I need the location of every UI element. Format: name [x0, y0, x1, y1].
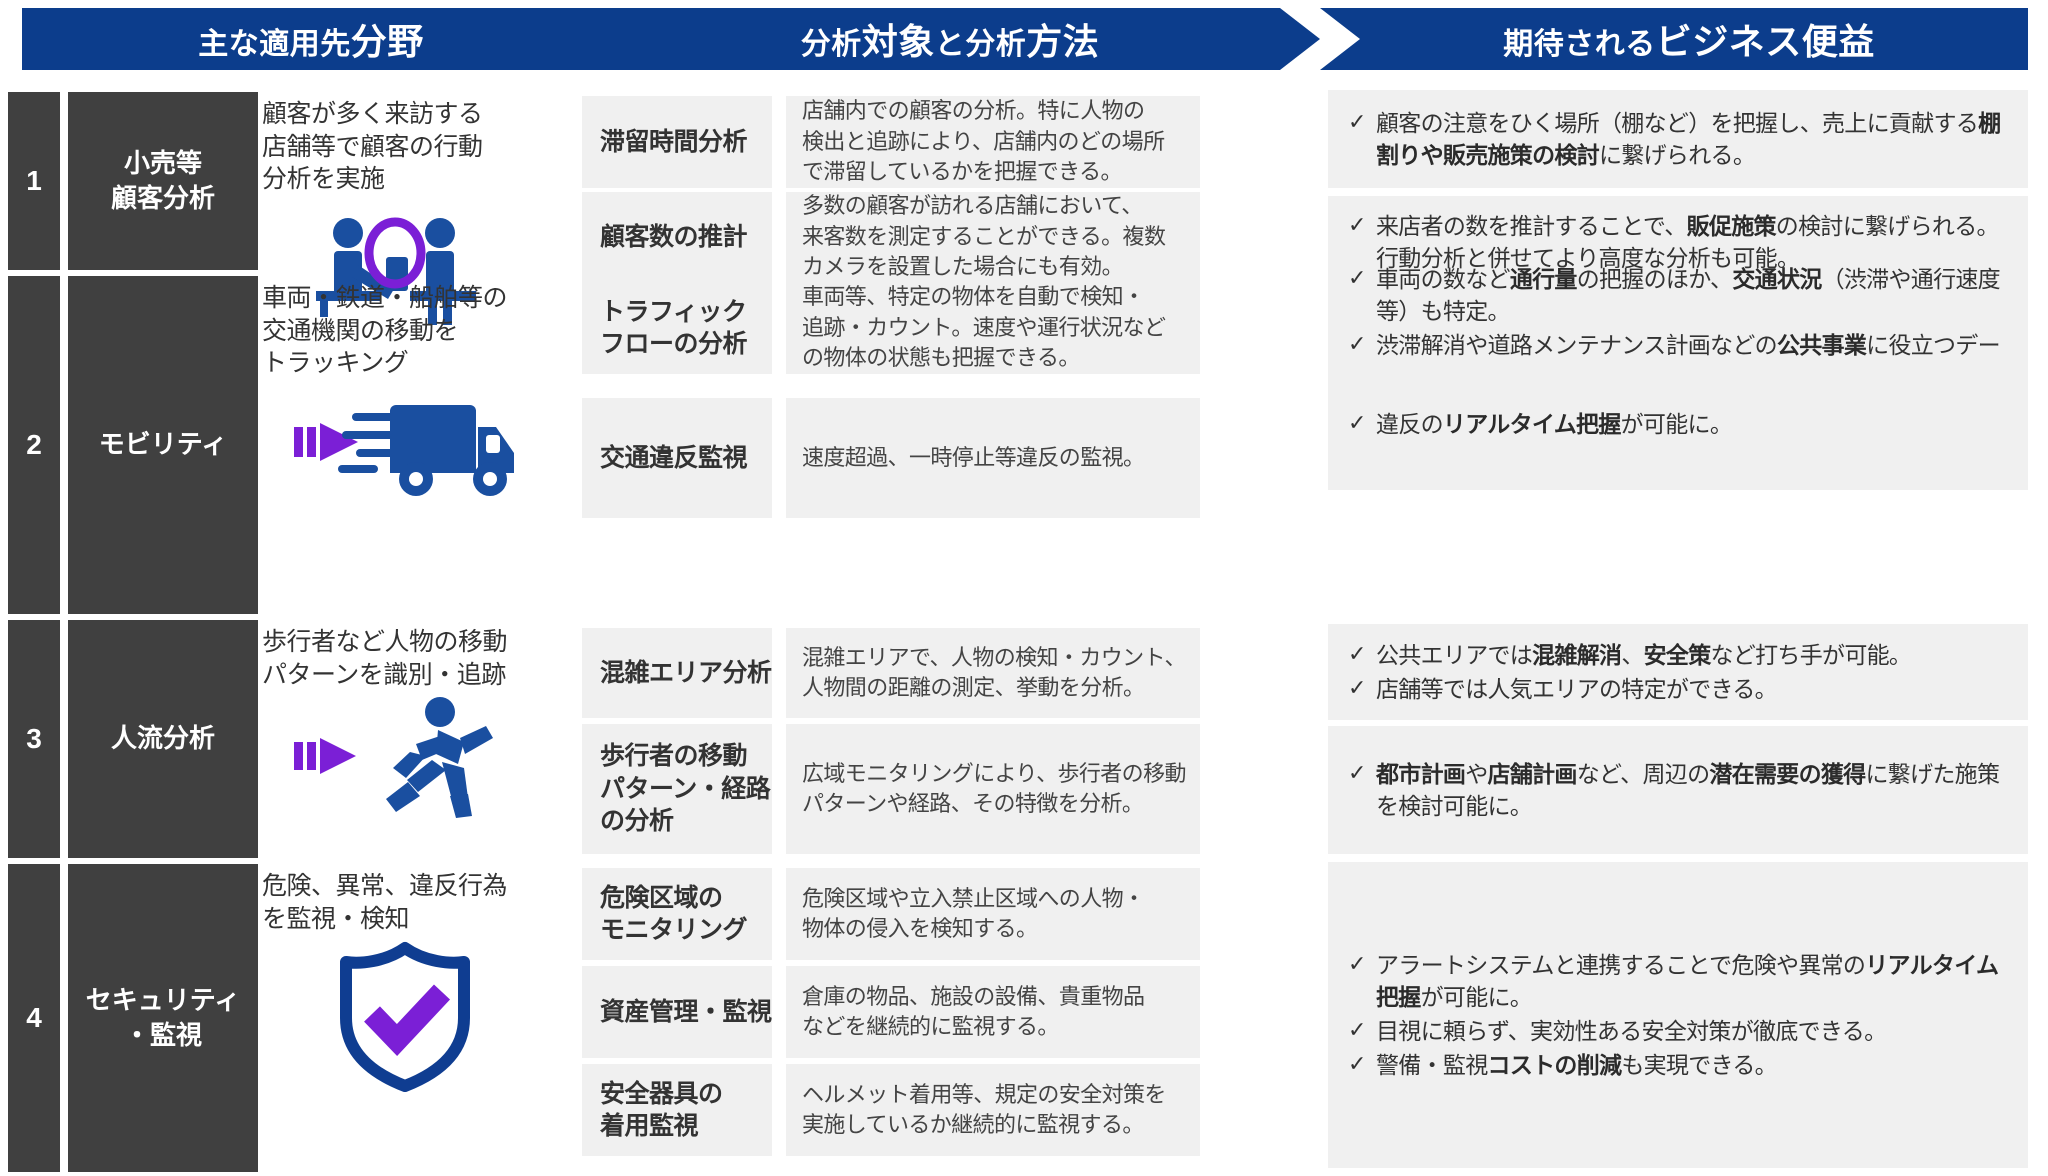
method-title-text: 歩行者の移動パターン・経路の分析: [600, 740, 770, 838]
benefit-item: ✓目視に頼らず、実効性ある安全対策が徹底できる。: [1348, 1015, 2012, 1047]
method-title-text: 交通違反監視: [600, 442, 747, 475]
method-title: 交通違反監視: [582, 398, 772, 518]
benefit-item: ✓車両の数など通行量の把握のほか、交通状況（渋滞や通行速度等）も特定。: [1348, 263, 2012, 327]
check-icon: ✓: [1348, 758, 1376, 789]
method-description: 速度超過、一時停止等違反の監視。: [786, 398, 1200, 518]
header-col3-text: 期待されるビジネス便益: [1503, 13, 1875, 65]
header-business-benefits: 期待されるビジネス便益: [1320, 8, 2028, 70]
method-title-text: 資産管理・監視: [600, 996, 772, 1029]
header-application-fields: 主な適用先分野: [22, 8, 600, 70]
benefit-text: 顧客の注意をひく場所（棚など）を把握し、売上に貢献する棚割りや販売施策の検討に繋…: [1376, 107, 2012, 171]
check-icon: ✓: [1348, 329, 1376, 360]
method-description: 広域モニタリングにより、歩行者の移動パターンや経路、その特徴を分析。: [786, 724, 1200, 854]
benefit-item: ✓店舗等では人気エリアの特定ができる。: [1348, 673, 2012, 705]
benefit-text: 店舗等では人気エリアの特定ができる。: [1376, 673, 2012, 705]
benefit-text: 都市計画や店舗計画など、周辺の潜在需要の獲得に繋げた施策を検討可能に。: [1376, 758, 2012, 822]
row-number-3: 3: [8, 620, 60, 858]
header-col2-p2: と分析: [935, 28, 1027, 61]
method-description-text: 店舗内での顧客の分析。特に人物の検出と追跡により、店舗内のどの場所で滞留している…: [802, 96, 1164, 187]
method-description-text: 車両等、特定の物体を自動で検知・追跡・カウント。速度や運行状況などの物体の状態も…: [802, 282, 1165, 373]
benefit-card: ✓公共エリアでは混雑解消、安全策など打ち手が可能。✓店舗等では人気エリアの特定が…: [1328, 624, 2028, 720]
category-label: モビリティ: [99, 427, 227, 462]
header-col3-bold: ビジネス便益: [1656, 21, 1875, 62]
method-description-text: 広域モニタリングにより、歩行者の移動パターンや経路、その特徴を分析。: [802, 759, 1186, 820]
benefit-item: ✓違反のリアルタイム把握が可能に。: [1348, 408, 2012, 440]
check-icon: ✓: [1348, 949, 1376, 980]
method-title-text: 混雑エリア分析: [600, 657, 772, 690]
category-description-4: 危険、異常、違反行為を監視・検知: [262, 870, 580, 935]
benefit-card: ✓顧客の注意をひく場所（棚など）を把握し、売上に貢献する棚割りや販売施策の検討に…: [1328, 90, 2028, 188]
method-title: 顧客数の推計: [582, 192, 772, 282]
method-title: トラフィックフローの分析: [582, 282, 772, 374]
slide-canvas: 主な適用先分野 分析対象と分析方法 期待されるビジネス便益 1小売等顧客分析顧客…: [0, 0, 2048, 1176]
benefit-card: ✓違反のリアルタイム把握が可能に。: [1328, 358, 2028, 490]
method-title-text: 危険区域のモニタリング: [600, 882, 747, 947]
method-description: 車両等、特定の物体を自動で検知・追跡・カウント。速度や運行状況などの物体の状態も…: [786, 282, 1200, 374]
row-number-2: 2: [8, 276, 60, 614]
row-number-4: 4: [8, 864, 60, 1172]
method-description-text: 速度超過、一時停止等違反の監視。: [802, 443, 1144, 473]
method-description: 店舗内での顧客の分析。特に人物の検出と追跡により、店舗内のどの場所で滞留している…: [786, 96, 1200, 188]
method-description-text: 多数の顧客が訪れる店舗において、来客数を測定することができる。複数カメラを設置し…: [802, 191, 1165, 282]
header-col1-text: 主な適用先分野: [198, 13, 424, 65]
method-description: ヘルメット着用等、規定の安全対策を実施しているか継続的に監視する。: [786, 1064, 1200, 1156]
check-icon: ✓: [1348, 639, 1376, 670]
benefit-item: ✓公共エリアでは混雑解消、安全策など打ち手が可能。: [1348, 639, 2012, 671]
category-label: セキュリティ・監視: [86, 983, 240, 1053]
category-cell-2: モビリティ: [68, 276, 258, 614]
method-title-text: 顧客数の推計: [600, 221, 747, 254]
benefit-card: ✓アラートシステムと連携することで危険や異常のリアルタイム把握が可能に。✓目視に…: [1328, 862, 2028, 1168]
check-icon: ✓: [1348, 107, 1376, 138]
header-col2-b1: 対象: [862, 21, 935, 62]
truck-motion-icon: [290, 379, 520, 610]
benefit-text: 車両の数など通行量の把握のほか、交通状況（渋滞や通行速度等）も特定。: [1376, 263, 2012, 327]
benefit-text: 違反のリアルタイム把握が可能に。: [1376, 408, 2012, 440]
method-title: 滞留時間分析: [582, 96, 772, 188]
header-analysis-target-method: 分析対象と分析方法: [580, 8, 1320, 70]
method-description: 多数の顧客が訪れる店舗において、来客数を測定することができる。複数カメラを設置し…: [786, 192, 1200, 282]
method-description-text: 危険区域や立入禁止区域への人物・物体の侵入を検知する。: [802, 884, 1144, 945]
method-description: 危険区域や立入禁止区域への人物・物体の侵入を検知する。: [786, 868, 1200, 960]
row-number-1: 1: [8, 92, 60, 270]
method-title: 混雑エリア分析: [582, 628, 772, 718]
method-description: 混雑エリアで、人物の検知・カウント、人物間の距離の測定、挙動を分析。: [786, 628, 1200, 718]
benefit-card: ✓都市計画や店舗計画など、周辺の潜在需要の獲得に繋げた施策を検討可能に。: [1328, 726, 2028, 854]
header-col2-b2: 方法: [1026, 21, 1099, 62]
category-label: 小売等顧客分析: [111, 146, 215, 216]
check-icon: ✓: [1348, 673, 1376, 704]
benefit-text: 目視に頼らず、実効性ある安全対策が徹底できる。: [1376, 1015, 2012, 1047]
method-title: 危険区域のモニタリング: [582, 868, 772, 960]
method-description-text: 倉庫の物品、施設の設備、貴重物品などを継続的に監視する。: [802, 982, 1144, 1043]
benefit-text: 公共エリアでは混雑解消、安全策など打ち手が可能。: [1376, 639, 2012, 671]
method-title-text: 安全器具の着用監視: [600, 1078, 723, 1143]
method-title: 歩行者の移動パターン・経路の分析: [582, 724, 772, 854]
method-description: 倉庫の物品、施設の設備、貴重物品などを継続的に監視する。: [786, 966, 1200, 1058]
method-title-text: 滞留時間分析: [600, 126, 747, 159]
header-col3-normal: 期待される: [1503, 28, 1656, 61]
benefit-item: ✓警備・監視コストの削減も実現できる。: [1348, 1049, 2012, 1081]
shield-check-icon: [290, 934, 520, 1168]
category-label: 人流分析: [111, 721, 215, 756]
benefit-text: 警備・監視コストの削減も実現できる。: [1376, 1049, 2012, 1081]
category-description-2: 車両・鉄道・船舶等の交通機関の移動をトラッキング: [262, 282, 580, 380]
benefit-text: アラートシステムと連携することで危険や異常のリアルタイム把握が可能に。: [1376, 949, 2012, 1013]
method-description-text: ヘルメット着用等、規定の安全対策を実施しているか継続的に監視する。: [802, 1080, 1166, 1141]
benefit-item: ✓顧客の注意をひく場所（棚など）を把握し、売上に貢献する棚割りや販売施策の検討に…: [1348, 107, 2012, 171]
method-title: 資産管理・監視: [582, 966, 772, 1058]
check-icon: ✓: [1348, 1049, 1376, 1080]
benefit-item: ✓アラートシステムと連携することで危険や異常のリアルタイム把握が可能に。: [1348, 949, 2012, 1013]
header-col1-bold: 分野: [351, 21, 424, 62]
method-title: 安全器具の着用監視: [582, 1064, 772, 1156]
method-title-text: トラフィックフローの分析: [600, 296, 747, 361]
check-icon: ✓: [1348, 210, 1376, 241]
retail-people-icon: [290, 195, 520, 266]
category-cell-3: 人流分析: [68, 620, 258, 858]
category-cell-4: セキュリティ・監視: [68, 864, 258, 1172]
running-person-icon: [290, 690, 520, 854]
method-description-text: 混雑エリアで、人物の検知・カウント、人物間の距離の測定、挙動を分析。: [802, 643, 1186, 704]
check-icon: ✓: [1348, 1015, 1376, 1046]
header-col1-normal: 主な適用先: [198, 28, 351, 61]
benefit-item: ✓都市計画や店舗計画など、周辺の潜在需要の獲得に繋げた施策を検討可能に。: [1348, 758, 2012, 822]
header-col2-p1: 分析: [801, 28, 862, 61]
category-description-3: 歩行者など人物の移動パターンを識別・追跡: [262, 626, 580, 691]
category-cell-1: 小売等顧客分析: [68, 92, 258, 270]
check-icon: ✓: [1348, 408, 1376, 439]
check-icon: ✓: [1348, 263, 1376, 294]
category-description-1: 顧客が多く来訪する店舗等で顧客の行動分析を実施: [262, 98, 580, 196]
header-col2-text: 分析対象と分析方法: [801, 13, 1100, 65]
